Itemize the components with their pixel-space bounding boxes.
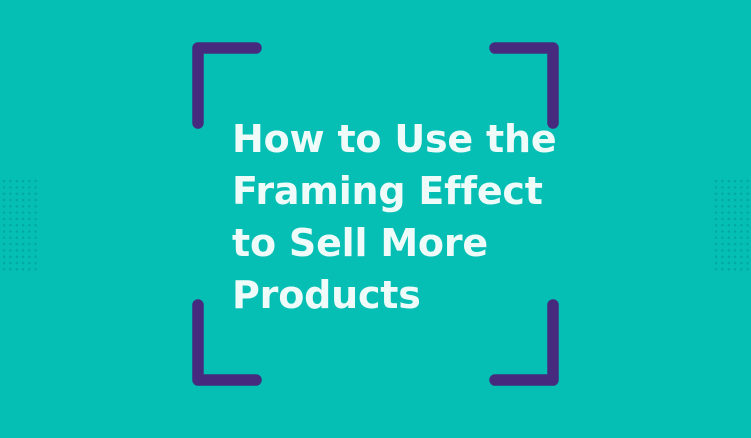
- headline-title: How to Use the Framing Effect to Sell Mo…: [232, 113, 562, 321]
- dot-grid-right-decoration: [712, 177, 751, 273]
- blog-header-graphic: How to Use the Framing Effect to Sell Mo…: [0, 0, 751, 438]
- headline-line-3: to Sell More: [232, 217, 562, 269]
- headline-line-1: How to Use the: [232, 113, 562, 165]
- headline-line-2: Framing Effect: [232, 165, 562, 217]
- dot-grid-left-decoration: [0, 177, 39, 273]
- headline-line-4: Products: [232, 269, 562, 321]
